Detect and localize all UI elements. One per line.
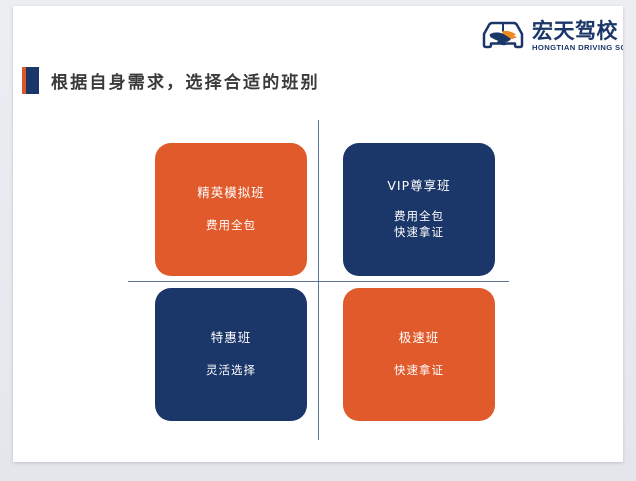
quadrant-card-speed[interactable]: 极速班 快速拿证	[343, 288, 495, 421]
quadrant-title: 特惠班	[211, 330, 252, 345]
quadrant-card-discount[interactable]: 特惠班 灵活选择	[155, 288, 307, 421]
quadrant-subtitle: 费用全包 快速拿证	[394, 209, 444, 241]
slide-frame: 宏天驾校 HONGTIAN DRIVING SCHOOL 根据自身需求，选择合适…	[0, 0, 636, 481]
quadrant-subtitle: 费用全包	[206, 218, 256, 234]
quadrant-card-vip[interactable]: VIP尊享班 费用全包 快速拿证	[343, 143, 495, 276]
quadrant-title: 极速班	[399, 330, 440, 345]
quadrant-diagram: 精英模拟班 费用全包 VIP尊享班 费用全包 快速拿证 特惠班 灵活选择 极速班…	[13, 6, 623, 462]
quadrant-card-elite[interactable]: 精英模拟班 费用全包	[155, 143, 307, 276]
quadrant-title: VIP尊享班	[387, 178, 450, 193]
slide-canvas: 宏天驾校 HONGTIAN DRIVING SCHOOL 根据自身需求，选择合适…	[13, 6, 623, 462]
quadrant-subtitle: 灵活选择	[206, 363, 256, 379]
quadrant-title: 精英模拟班	[197, 185, 265, 200]
divider-vertical	[318, 120, 319, 440]
quadrant-subtitle: 快速拿证	[394, 363, 444, 379]
